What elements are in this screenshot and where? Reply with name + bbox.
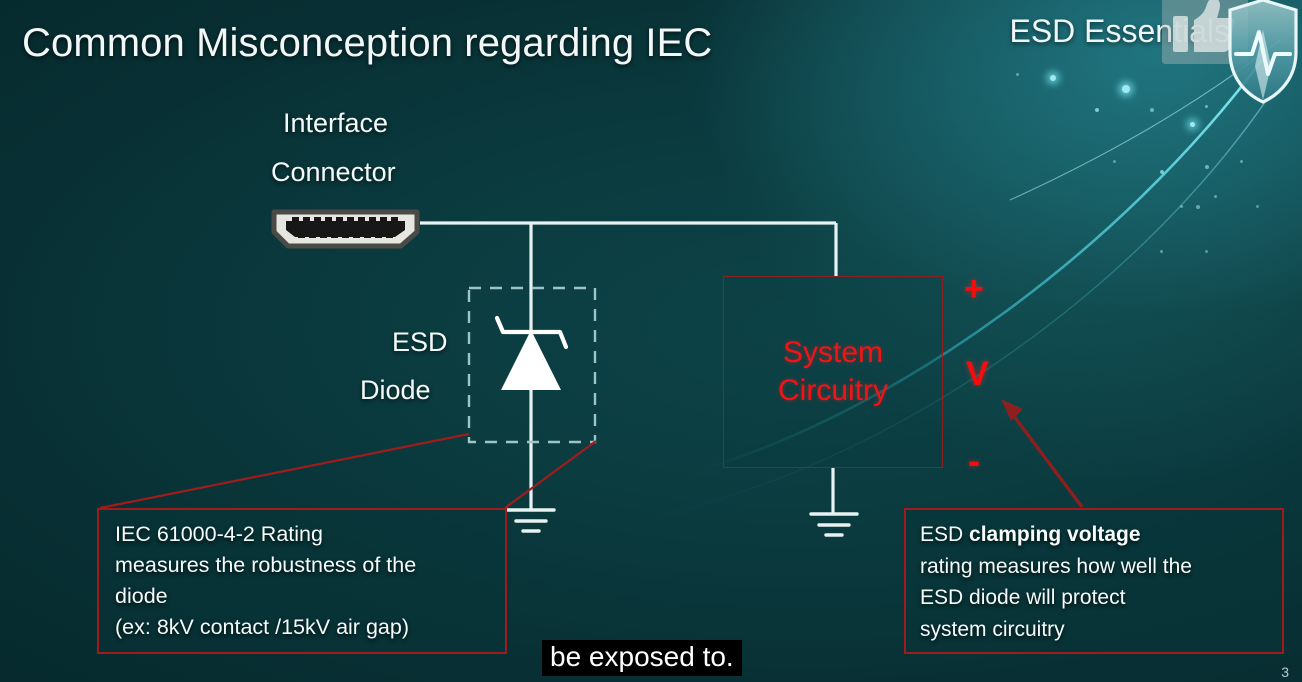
callout-left-line4: (ex: 8kV contact /15kV air gap) [115,612,491,643]
page-number: 3 [1281,664,1289,680]
callout-leader-left [100,434,596,508]
callout-left: IEC 61000-4-2 Rating measures the robust… [97,508,507,654]
callout-right-line1-prefix: ESD [920,523,969,546]
esd-label: ESD [392,327,448,358]
slide-canvas: Common Misconception regarding IEC ESD E… [0,0,1302,682]
polarity-voltage-label: V [966,355,989,394]
callout-right: ESD clamping voltage rating measures how… [904,508,1284,654]
system-circuitry-line1: System [783,334,883,372]
callout-right-line1-bold: clamping voltage [969,523,1141,546]
callout-left-line3: diode [115,581,491,612]
subtitle-caption: be exposed to. [542,640,742,676]
ground-symbol-icon [508,510,554,531]
callout-right-line3: ESD diode will protect [920,582,1270,614]
ground-symbol-icon-2 [811,514,857,535]
callout-right-line4: system circuitry [920,614,1270,646]
callout-arrow-right [1001,399,1082,507]
hdmi-connector-icon [268,206,423,251]
connector-label: Connector [271,157,396,188]
interface-label: Interface [283,108,388,139]
polarity-plus-label: + [964,270,984,309]
callout-left-line2: measures the robustness of the [115,550,491,581]
polarity-minus-label: - [968,440,980,482]
diode-label: Diode [360,375,431,406]
system-circuitry-line2: Circuitry [778,372,888,410]
system-circuitry-box: System Circuitry [723,276,943,468]
callout-left-line1: IEC 61000-4-2 Rating [115,519,491,550]
callout-right-line2: rating measures how well the [920,551,1270,583]
callout-right-line1: ESD clamping voltage [920,519,1270,551]
